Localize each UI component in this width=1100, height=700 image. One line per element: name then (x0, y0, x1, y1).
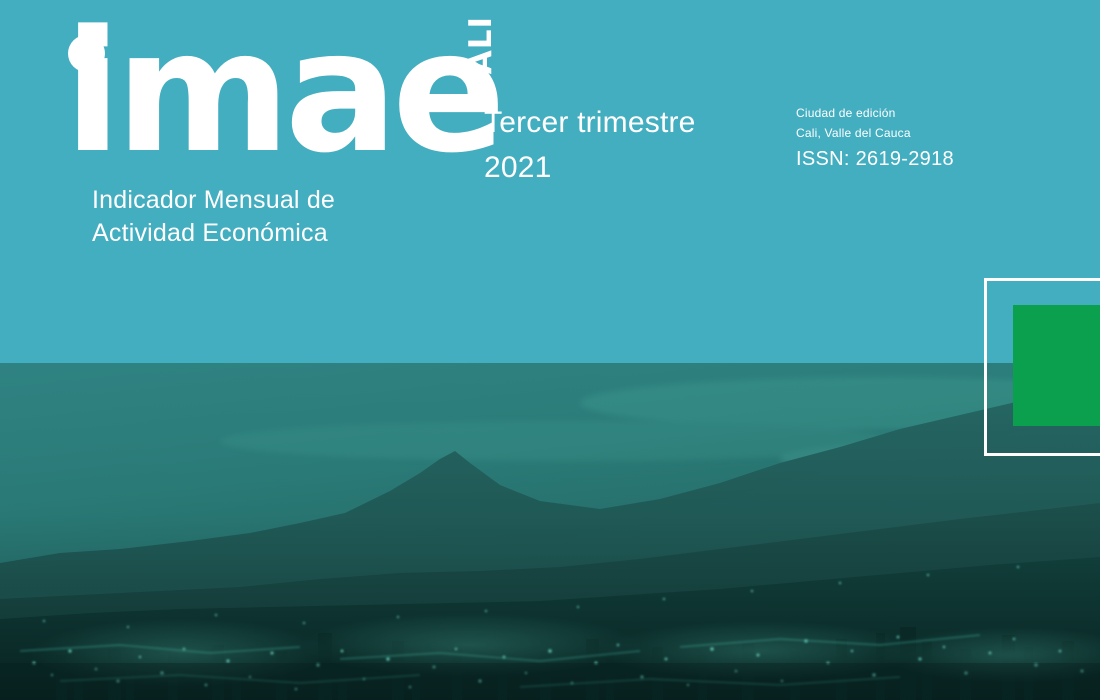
edition-issn: ISSN: 2619-2918 (796, 146, 954, 173)
issue-year: 2021 (484, 145, 696, 190)
logo-subtitle: Indicador Mensual de Actividad Económica (92, 184, 512, 249)
logo-subtitle-line1: Indicador Mensual de (92, 184, 512, 217)
logo-wordmark-row: imae CALI (64, 26, 464, 176)
logo-wordmark: imae (64, 8, 500, 176)
cityscape-photo (0, 363, 1100, 700)
logo-subtitle-line2: Actividad Económica (92, 217, 512, 250)
decorative-white-frame (984, 278, 1100, 456)
logo-city-tag: CALI (463, 16, 499, 98)
issue-title: Tercer trimestre 2021 (484, 100, 696, 190)
edition-city: Cali, Valle del Cauca (796, 124, 954, 144)
edition-label: Ciudad de edición (796, 104, 954, 124)
cover-page: imae CALI Indicador Mensual de Actividad… (0, 0, 1100, 700)
issue-period: Tercer trimestre (484, 100, 696, 145)
logo-dot-icon (68, 35, 105, 72)
imae-logo: imae CALI Indicador Mensual de Actividad… (64, 26, 464, 176)
edition-info: Ciudad de edición Cali, Valle del Cauca … (796, 104, 954, 173)
